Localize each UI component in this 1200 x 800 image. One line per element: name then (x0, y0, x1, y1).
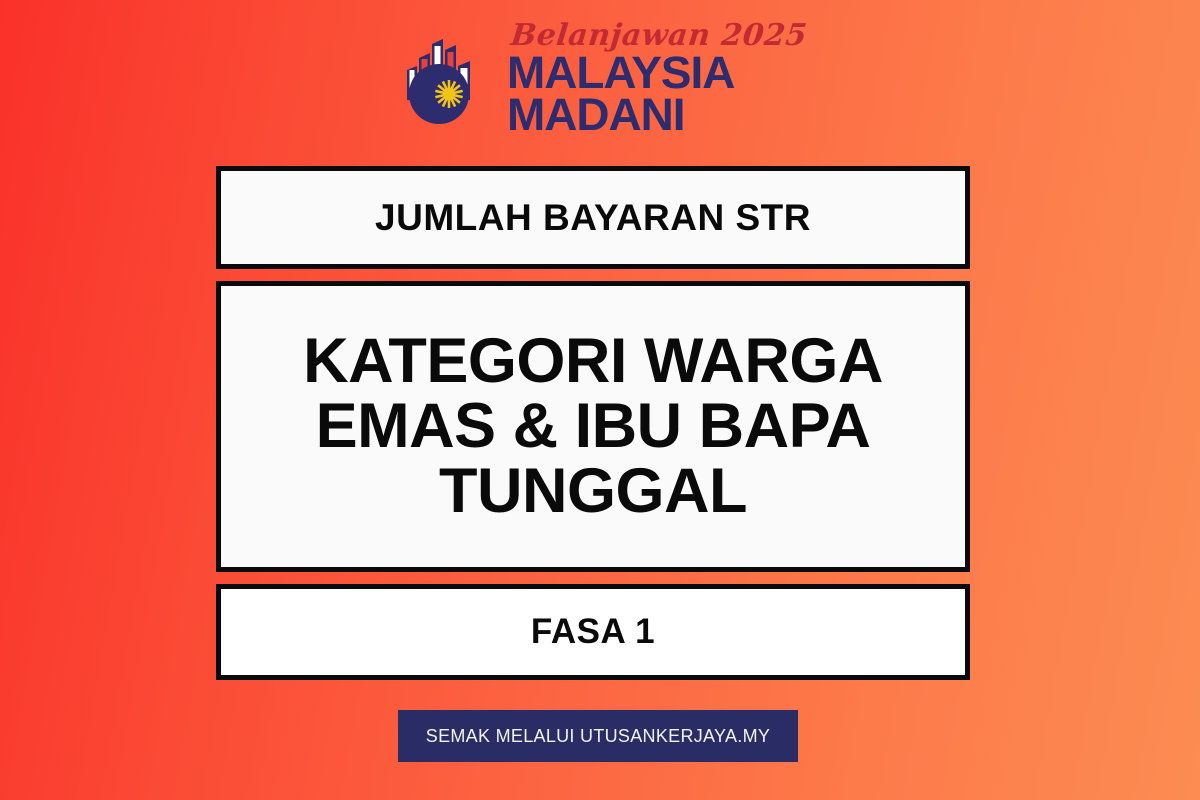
subtitle-box: JUMLAH BAYARAN STR (216, 166, 970, 269)
malaysia-madani-logo-icon (393, 26, 497, 130)
title-line-1: KATEGORI WARGA (303, 329, 883, 394)
title-line-2: EMAS & IBU BAPA (303, 394, 883, 459)
title-line-3: TUNGGAL (303, 459, 883, 524)
page-title: KATEGORI WARGA EMAS & IBU BAPA TUNGGAL (289, 329, 897, 524)
brand-word-madani: MADANI (507, 94, 684, 136)
brand-logo: Belanjawan 2025 MALAYSIA MADANI (0, 18, 1200, 138)
subtitle-text: JUMLAH BAYARAN STR (375, 197, 811, 239)
brand-logo-text: Belanjawan 2025 MALAYSIA MADANI (507, 21, 807, 136)
title-box: KATEGORI WARGA EMAS & IBU BAPA TUNGGAL (216, 281, 970, 572)
source-banner-label: SEMAK MELALUI UTUSANKERJAYA.MY (426, 726, 770, 747)
source-banner[interactable]: SEMAK MELALUI UTUSANKERJAYA.MY (398, 710, 798, 762)
phase-box: FASA 1 (216, 584, 970, 680)
brand-word-malaysia: MALAYSIA (507, 52, 734, 94)
phase-text: FASA 1 (531, 612, 655, 652)
